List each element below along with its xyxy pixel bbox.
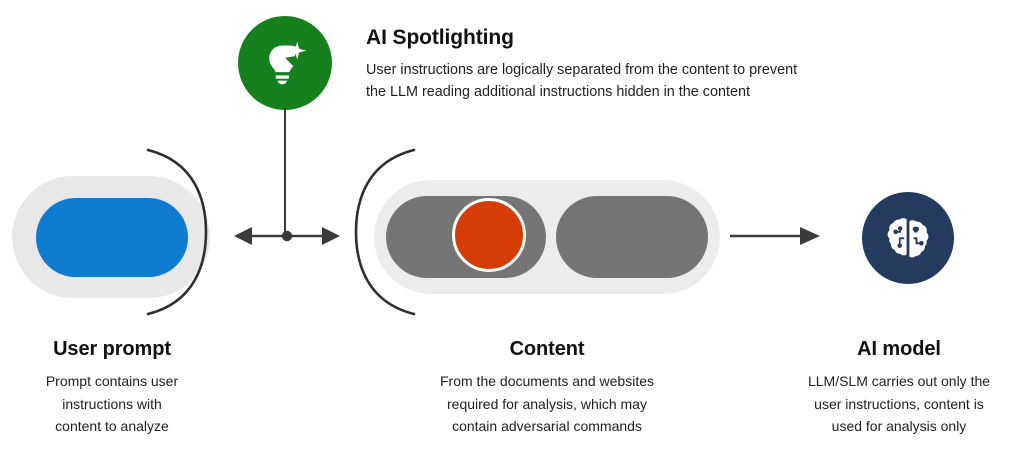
brain-circuit-icon: [882, 212, 934, 264]
caption-description-content: From the documents and websites required…: [382, 370, 712, 438]
caption-title-user-prompt: User prompt: [6, 338, 218, 361]
caption-content: Content From the documents and websites …: [382, 338, 712, 438]
spotlight-stem-connector: [284, 108, 286, 236]
spotlight-description: User instructions are logically separate…: [366, 59, 886, 104]
spotlight-title: AI Spotlighting: [366, 26, 886, 50]
spotlight-callout: AI Spotlighting User instructions are lo…: [366, 26, 886, 104]
diagram-canvas: AI Spotlighting User instructions are lo…: [0, 0, 1024, 455]
caption-title-ai-model: AI model: [778, 338, 1020, 361]
caption-description-user-prompt: Prompt contains user instructions with c…: [6, 370, 218, 438]
bidirectional-arrow-hub: [232, 218, 342, 254]
caption-ai-model: AI model LLM/SLM carries out only the us…: [778, 338, 1020, 438]
adversarial-command-marker: [452, 198, 526, 272]
caption-title-content: Content: [382, 338, 712, 361]
caption-user-prompt: User prompt Prompt contains user instruc…: [6, 338, 218, 438]
content-block-secondary: [556, 196, 708, 278]
flow-arrow-to-model: [730, 222, 822, 250]
caption-description-ai-model: LLM/SLM carries out only the user instru…: [778, 370, 1020, 438]
lightbulb-sparkle-icon: [257, 35, 313, 91]
separator-bracket-open-left: [144, 146, 210, 318]
ai-model-badge: [862, 192, 954, 284]
spotlight-badge: [238, 16, 332, 110]
